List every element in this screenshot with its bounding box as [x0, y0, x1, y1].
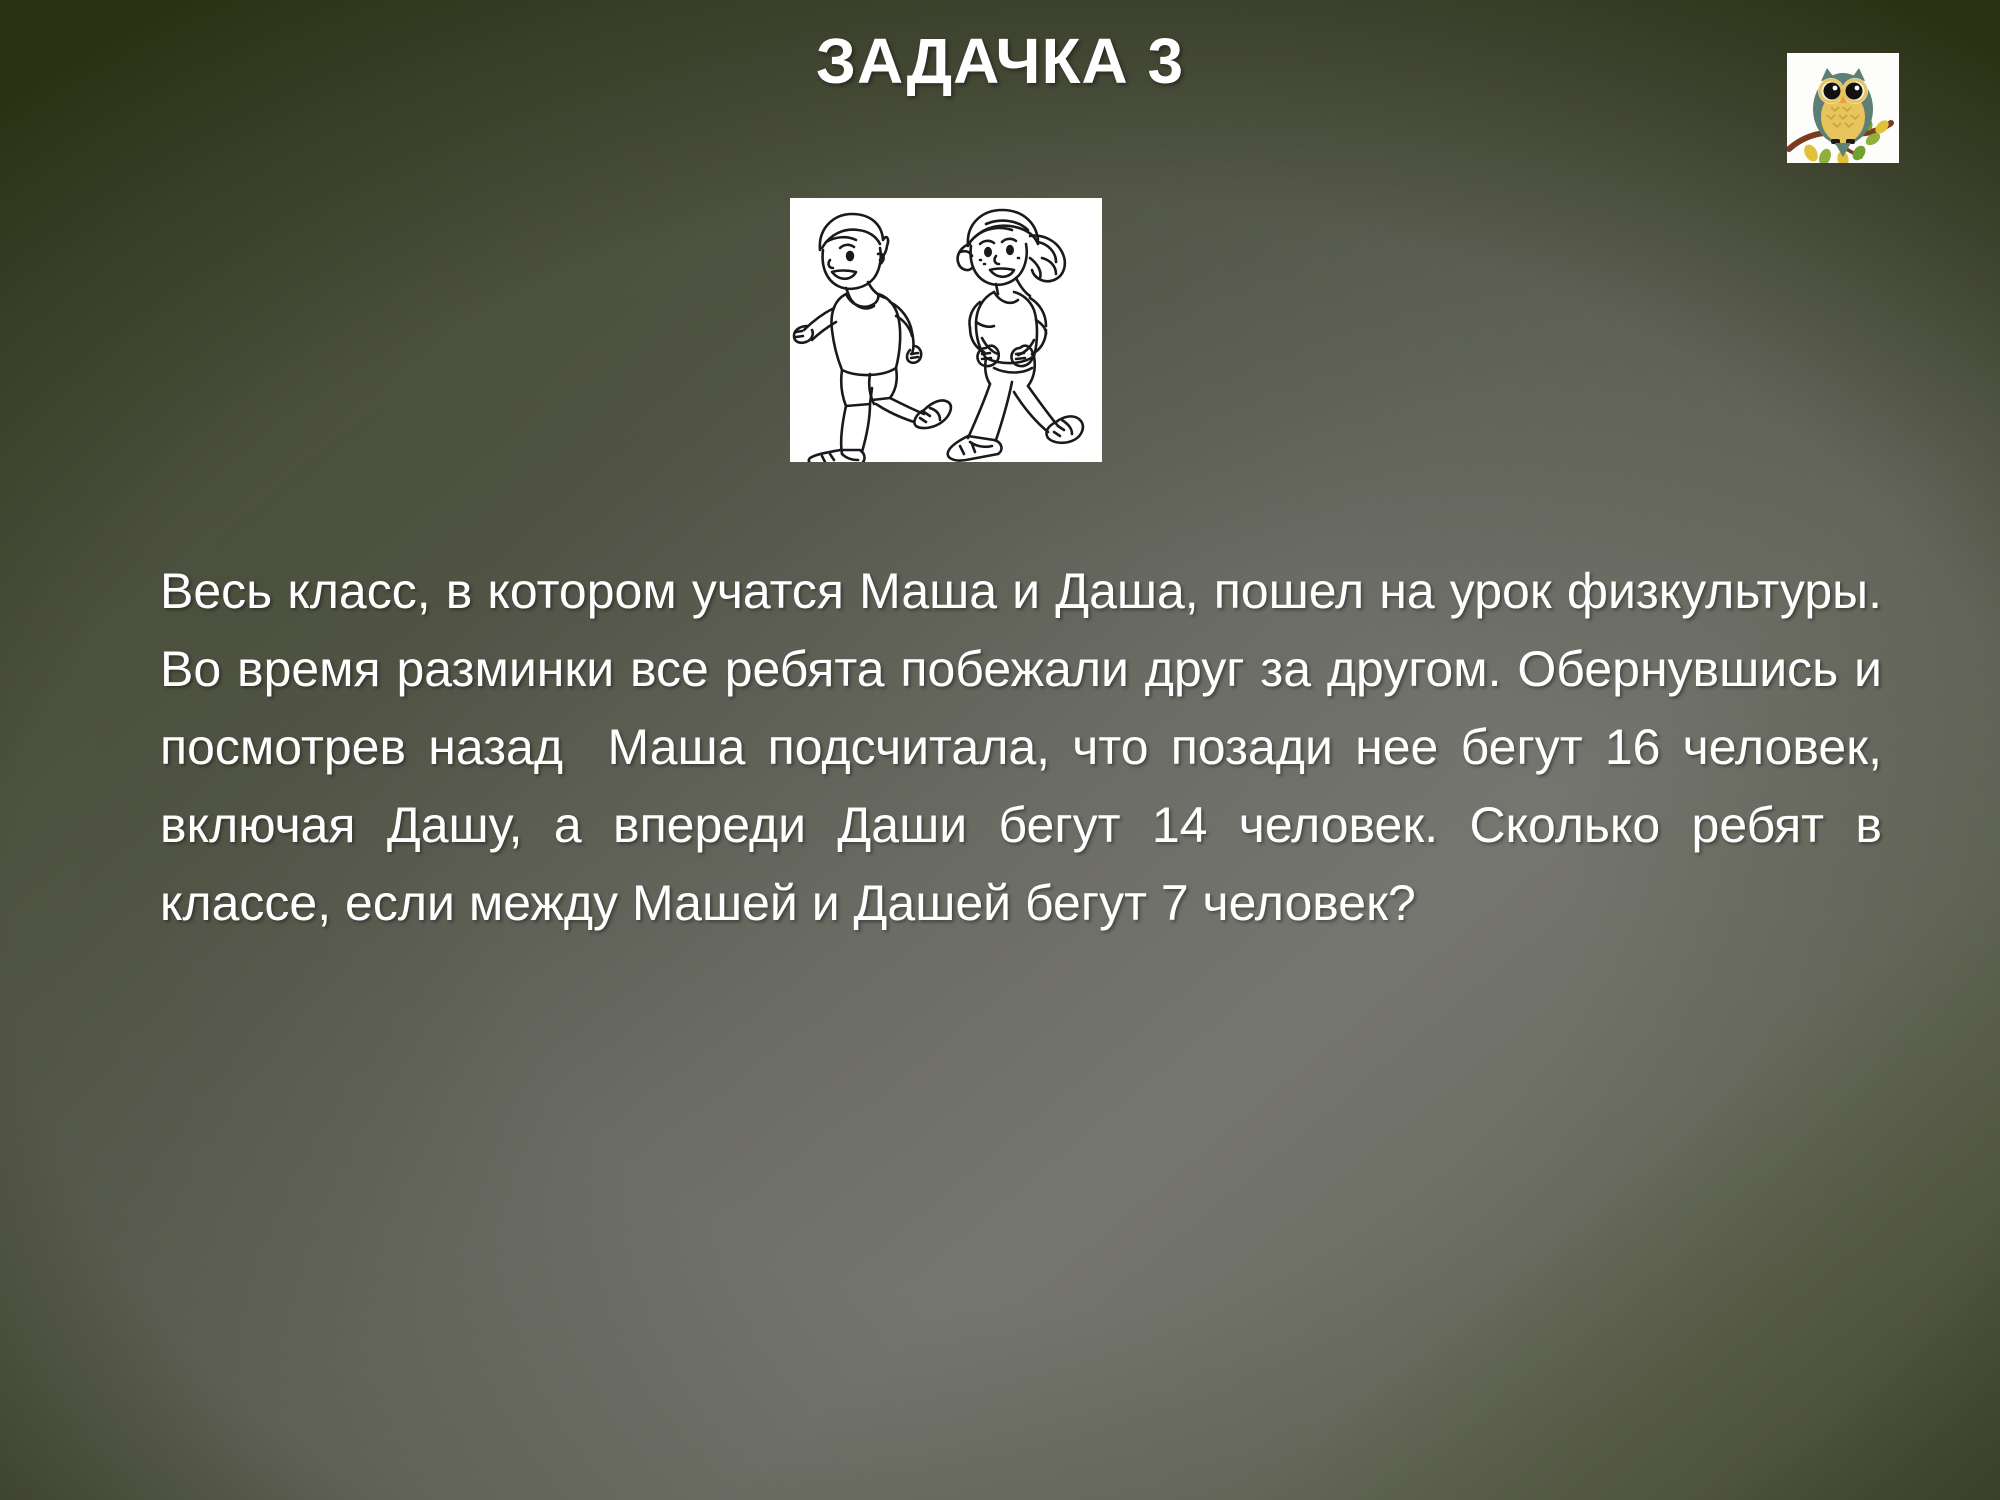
- running-children-lineart: [790, 198, 1102, 462]
- task-paragraph: Весь класс, в котором учатся Маша и Даша…: [160, 552, 1882, 942]
- slide-canvas: ЗАДАЧКА 3: [0, 0, 2000, 1500]
- running-children-illustration: [790, 198, 1102, 462]
- owl-icon: [1787, 53, 1899, 163]
- page-title: ЗАДАЧКА 3: [0, 26, 2000, 96]
- owl-on-branch-logo: [1787, 53, 1899, 163]
